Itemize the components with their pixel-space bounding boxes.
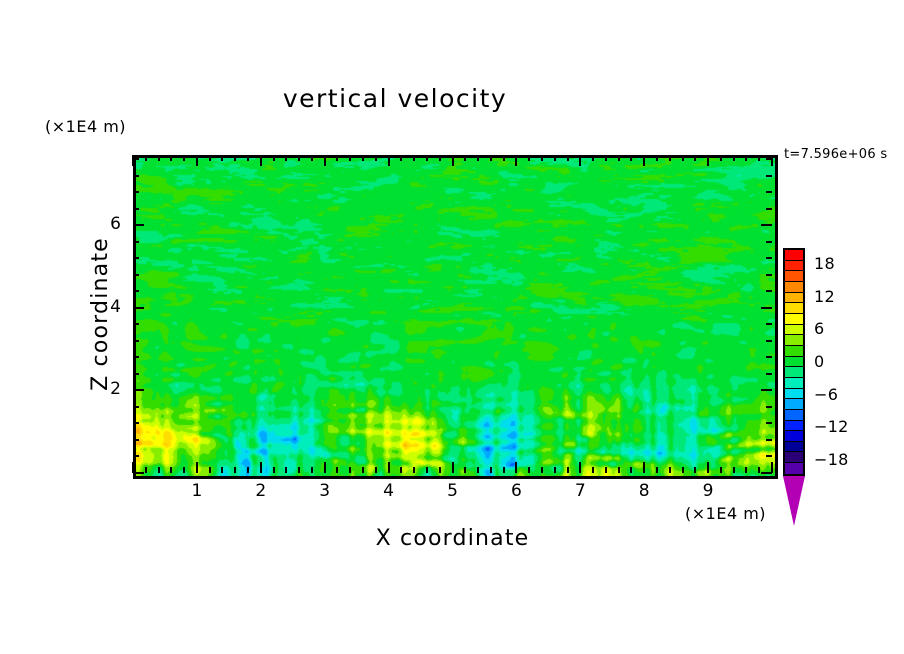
x-tick	[183, 155, 185, 161]
x-tick-label: 8	[624, 481, 664, 501]
colorbar-band	[785, 431, 803, 442]
x-tick	[298, 467, 300, 473]
y-tick	[766, 274, 772, 276]
x-tick	[388, 462, 390, 473]
x-tick	[452, 155, 454, 166]
colorbar-band	[785, 399, 803, 410]
x-tick	[349, 155, 351, 161]
y-tick	[133, 323, 139, 325]
y-tick	[766, 373, 772, 375]
x-tick	[209, 467, 211, 473]
x-tick	[375, 467, 377, 473]
x-tick	[145, 155, 147, 161]
colorbar-band	[785, 442, 803, 453]
x-tick	[183, 467, 185, 473]
y-tick-label: 6	[81, 214, 121, 234]
colorbar-tick-label: 6	[814, 319, 824, 338]
y-tick	[766, 455, 772, 457]
y-tick-label: 4	[81, 297, 121, 317]
colorbar-band	[785, 250, 803, 261]
page-title: vertical velocity	[0, 84, 790, 113]
x-tick	[439, 155, 441, 161]
x-tick	[733, 155, 735, 161]
x-tick	[158, 467, 160, 473]
x-tick	[733, 467, 735, 473]
x-tick	[656, 467, 658, 473]
x-tick	[452, 462, 454, 473]
x-tick	[758, 467, 760, 473]
x-tick	[285, 467, 287, 473]
y-tick	[133, 356, 139, 358]
x-tick	[234, 155, 236, 161]
x-tick	[464, 467, 466, 473]
x-tick	[170, 467, 172, 473]
x-axis-title: X coordinate	[133, 526, 772, 551]
x-tick	[247, 467, 249, 473]
x-tick	[707, 462, 709, 473]
x-tick	[400, 467, 402, 473]
x-tick	[375, 155, 377, 161]
colorbar-band	[785, 378, 803, 389]
x-tick	[656, 155, 658, 161]
x-tick	[758, 155, 760, 161]
x-tick	[515, 155, 517, 166]
y-tick	[133, 373, 139, 375]
colorbar-band	[785, 261, 803, 272]
x-tick	[490, 467, 492, 473]
x-tick	[618, 467, 620, 473]
y-tick	[133, 422, 139, 424]
y-tick	[133, 241, 139, 243]
x-tick	[592, 155, 594, 161]
colorbar-bands	[783, 248, 805, 476]
y-tick	[133, 340, 139, 342]
x-tick	[221, 467, 223, 473]
colorbar-band	[785, 293, 803, 304]
x-tick	[426, 467, 428, 473]
x-tick	[336, 467, 338, 473]
y-tick	[133, 406, 139, 408]
colorbar-band	[785, 410, 803, 421]
y-tick	[133, 158, 139, 160]
colorbar-tick-label: −18	[814, 450, 849, 469]
x-tick-label: 7	[560, 481, 600, 501]
y-tick	[133, 290, 139, 292]
x-tick	[490, 155, 492, 161]
x-tick	[567, 155, 569, 161]
x-tick	[413, 155, 415, 161]
y-tick	[766, 191, 772, 193]
x-tick	[618, 155, 620, 161]
colorbar-band	[785, 282, 803, 293]
x-tick	[170, 155, 172, 161]
colorbar-band	[785, 389, 803, 400]
x-tick	[567, 467, 569, 473]
x-tick	[362, 155, 364, 161]
colorbar-tick-label: 0	[814, 352, 824, 371]
y-tick	[766, 422, 772, 424]
x-tick	[643, 155, 645, 166]
x-tick	[298, 155, 300, 161]
x-tick	[273, 467, 275, 473]
x-tick	[158, 155, 160, 161]
y-axis-unit-label: (×1E4 m)	[45, 117, 126, 136]
x-tick	[554, 467, 556, 473]
colorbar-band	[785, 303, 803, 314]
colorbar-under-arrow	[783, 476, 805, 576]
x-tick	[541, 155, 543, 161]
x-tick	[605, 467, 607, 473]
x-tick	[745, 467, 747, 473]
colorbar-band	[785, 452, 803, 463]
x-tick	[400, 155, 402, 161]
x-tick	[503, 467, 505, 473]
y-tick	[766, 208, 772, 210]
y-tick	[133, 208, 139, 210]
x-tick	[362, 467, 364, 473]
y-tick	[133, 274, 139, 276]
y-tick	[133, 307, 144, 309]
colorbar: 181260−6−12−18	[781, 200, 901, 510]
x-tick	[477, 155, 479, 161]
x-tick	[439, 467, 441, 473]
x-tick	[682, 467, 684, 473]
contour-plot-area	[133, 155, 778, 479]
y-tick	[766, 340, 772, 342]
x-tick	[579, 462, 581, 473]
y-tick	[133, 389, 144, 391]
colorbar-band	[785, 314, 803, 325]
colorbar-band	[785, 271, 803, 282]
y-tick	[133, 257, 139, 259]
x-tick	[643, 462, 645, 473]
x-tick	[247, 155, 249, 161]
y-tick	[766, 356, 772, 358]
vertical-velocity-field	[136, 158, 775, 476]
x-tick	[209, 155, 211, 161]
colorbar-tick-label: 18	[814, 254, 835, 273]
x-tick	[720, 155, 722, 161]
x-tick	[528, 467, 530, 473]
x-tick	[311, 467, 313, 473]
x-tick	[388, 155, 390, 166]
x-tick	[349, 467, 351, 473]
colorbar-band	[785, 367, 803, 378]
y-tick	[761, 389, 772, 391]
y-tick	[133, 472, 144, 474]
y-tick	[133, 455, 139, 457]
x-tick	[324, 462, 326, 473]
x-axis-unit-label: (×1E4 m)	[685, 504, 766, 523]
x-tick	[630, 467, 632, 473]
x-tick	[260, 462, 262, 473]
x-tick	[273, 155, 275, 161]
colorbar-band	[785, 346, 803, 357]
colorbar-band	[785, 325, 803, 336]
y-tick	[761, 224, 772, 226]
x-tick	[605, 155, 607, 161]
x-tick	[285, 155, 287, 161]
x-tick	[413, 467, 415, 473]
x-tick	[132, 155, 134, 166]
y-tick	[766, 175, 772, 177]
x-tick	[196, 462, 198, 473]
y-tick	[766, 439, 772, 441]
x-tick	[771, 155, 773, 166]
x-tick	[234, 467, 236, 473]
x-tick	[669, 467, 671, 473]
x-tick	[324, 155, 326, 166]
y-tick	[766, 158, 772, 160]
y-tick-label: 2	[81, 379, 121, 399]
y-tick	[133, 175, 139, 177]
y-tick	[761, 307, 772, 309]
x-tick	[503, 155, 505, 161]
x-tick	[694, 155, 696, 161]
x-tick	[707, 155, 709, 166]
y-tick	[133, 224, 144, 226]
x-tick-label: 9	[688, 481, 728, 501]
x-tick	[464, 155, 466, 161]
timestamp-label: t=7.596e+06 s	[784, 147, 887, 162]
x-tick	[694, 467, 696, 473]
colorbar-tick-label: −12	[814, 417, 849, 436]
x-tick-label: 5	[433, 481, 473, 501]
colorbar-band	[785, 463, 803, 474]
y-tick	[766, 323, 772, 325]
x-tick	[554, 155, 556, 161]
y-tick	[766, 241, 772, 243]
colorbar-band	[785, 335, 803, 346]
y-tick	[133, 191, 139, 193]
y-tick	[766, 290, 772, 292]
x-tick	[630, 155, 632, 161]
x-tick	[221, 155, 223, 161]
x-tick-label: 1	[177, 481, 217, 501]
x-tick	[426, 155, 428, 161]
x-tick	[745, 155, 747, 161]
y-tick	[766, 257, 772, 259]
x-tick-label: 3	[305, 481, 345, 501]
x-tick	[336, 155, 338, 161]
x-tick	[592, 467, 594, 473]
x-tick-label: 2	[241, 481, 281, 501]
y-tick	[766, 406, 772, 408]
x-tick	[145, 467, 147, 473]
x-tick	[579, 155, 581, 166]
colorbar-band	[785, 357, 803, 368]
colorbar-tick-label: −6	[814, 385, 838, 404]
x-tick	[477, 467, 479, 473]
x-tick	[311, 155, 313, 161]
x-tick	[515, 462, 517, 473]
y-tick	[761, 472, 772, 474]
x-tick	[669, 155, 671, 161]
x-tick	[682, 155, 684, 161]
x-tick	[260, 155, 262, 166]
x-tick	[541, 467, 543, 473]
colorbar-tick-label: 12	[814, 287, 835, 306]
x-tick	[196, 155, 198, 166]
y-tick	[133, 439, 139, 441]
x-tick	[528, 155, 530, 161]
x-tick-label: 6	[496, 481, 536, 501]
x-tick	[720, 467, 722, 473]
x-tick-label: 4	[369, 481, 409, 501]
colorbar-band	[785, 421, 803, 432]
